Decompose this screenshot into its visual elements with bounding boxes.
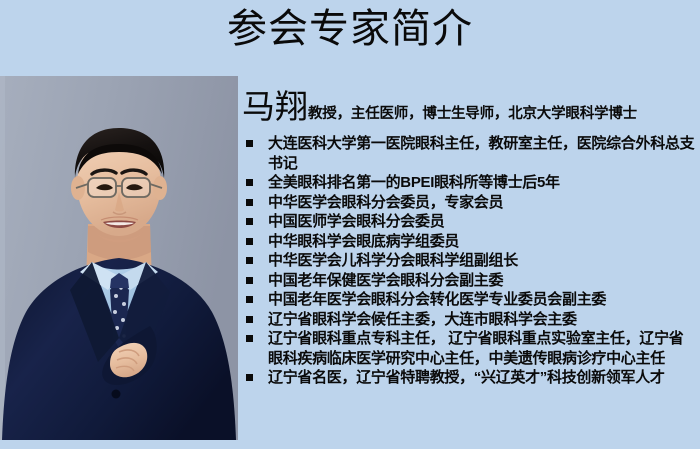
expert-titles: 教授，主任医师，博士生导师，北京大学眼科学博士 (308, 106, 637, 122)
list-item: 辽宁省眼科重点专科主任， 辽宁省眼科重点实验室主任，辽宁省眼科疾病临床医学研究中… (238, 329, 700, 368)
bullet-square-icon (246, 179, 253, 186)
bullet-square-icon (246, 238, 253, 245)
bullet-square-icon (246, 140, 253, 147)
credential-text: 全美眼科排名第一的BPEI眼科所等博士后5年 (268, 174, 560, 191)
credential-text: 中华眼科学会眼底病学组委员 (268, 233, 459, 250)
bullet-square-icon (246, 335, 253, 342)
expert-bio-panel: 马翔教授，主任医师，博士生导师，北京大学眼科学博士 大连医科大学第一医院眼科主任… (238, 90, 700, 440)
credentials-list: 大连医科大学第一医院眼科主任，教研室主任，医院综合外科总支书记 全美眼科排名第一… (238, 134, 700, 388)
expert-name-line: 马翔教授，主任医师，博士生导师，北京大学眼科学博士 (242, 90, 700, 123)
bullet-square-icon (246, 316, 253, 323)
bullet-square-icon (246, 296, 253, 303)
bullet-square-icon (246, 257, 253, 264)
credential-text: 中国老年医学会眼科分会转化医学专业委员会副主委 (268, 291, 606, 308)
credential-text: 中国医师学会眼科分会委员 (268, 213, 444, 230)
credential-text: 中国老年保健医学会眼科分会副主委 (268, 272, 503, 289)
page-title: 参会专家简介 (0, 6, 700, 52)
bullet-square-icon (246, 277, 253, 284)
list-item: 全美眼科排名第一的BPEI眼科所等博士后5年 (238, 173, 700, 193)
credential-text: 辽宁省名医，辽宁省特聘教授，“兴辽英才”科技创新领军人才 (268, 369, 665, 386)
bullet-square-icon (246, 199, 253, 206)
list-item: 中国老年医学会眼科分会转化医学专业委员会副主委 (238, 290, 700, 310)
list-item: 中华医学会眼科分会委员，专家会员 (238, 193, 700, 213)
credential-text: 中华医学会眼科分会委员，专家会员 (268, 194, 503, 211)
credential-text: 中华医学会儿科学分会眼科学组副组长 (268, 252, 518, 269)
portrait-illustration (0, 76, 238, 440)
list-item: 中国医师学会眼科分会委员 (238, 212, 700, 232)
bullet-square-icon (246, 374, 253, 381)
list-item: 辽宁省眼科学会候任主委，大连市眼科学会主委 (238, 310, 700, 330)
expert-name: 马翔 (242, 87, 308, 126)
list-item: 中华医学会儿科学分会眼科学组副组长 (238, 251, 700, 271)
bullet-square-icon (246, 218, 253, 225)
list-item: 中国老年保健医学会眼科分会副主委 (238, 271, 700, 291)
credential-text: 大连医科大学第一医院眼科主任，教研室主任，医院综合外科总支书记 (268, 135, 694, 172)
credential-text: 辽宁省眼科重点专科主任， 辽宁省眼科重点实验室主任，辽宁省眼科疾病临床医学研究中… (268, 330, 683, 367)
credential-text: 辽宁省眼科学会候任主委，大连市眼科学会主委 (268, 311, 577, 328)
list-item: 辽宁省名医，辽宁省特聘教授，“兴辽英才”科技创新领军人才 (238, 368, 700, 388)
expert-portrait-photo (0, 76, 238, 440)
list-item: 中华眼科学会眼底病学组委员 (238, 232, 700, 252)
presentation-slide: 参会专家简介 (0, 0, 700, 449)
list-item: 大连医科大学第一医院眼科主任，教研室主任，医院综合外科总支书记 (238, 134, 700, 173)
